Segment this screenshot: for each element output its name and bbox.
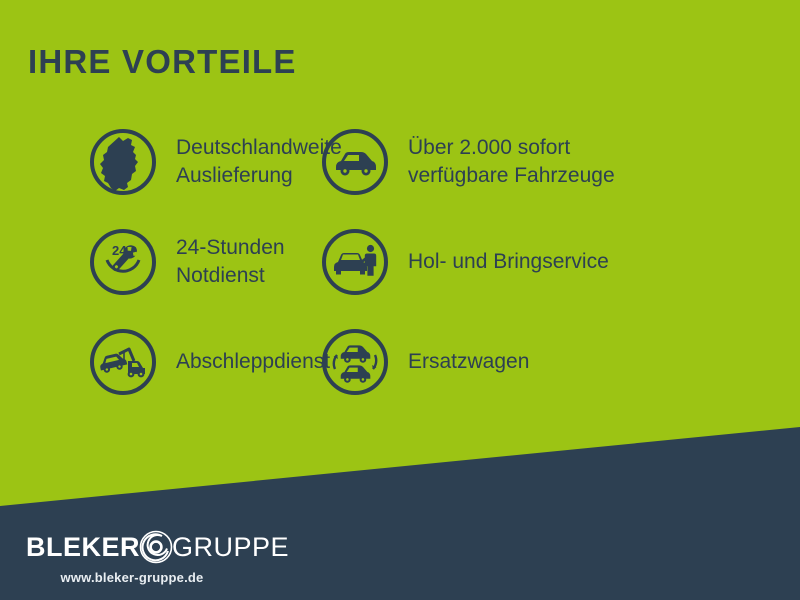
germany-map-icon	[88, 127, 158, 197]
two-cars-swap-icon	[320, 327, 390, 397]
logo-text-gruppe: GRUPPE	[172, 534, 289, 561]
benefit-item-verfuegbare-fahrzeuge: Über 2.000 sofort verfügbare Fahrzeuge	[310, 112, 710, 212]
benefit-item-hol-und-bringservice: Hol- und Bringservice	[310, 212, 710, 312]
spiral-logo-icon	[138, 529, 174, 565]
24h-wrench-icon: 24	[88, 227, 158, 297]
benefit-label: Hol- und Bringservice	[408, 248, 609, 276]
benefits-row: Abschleppdienst	[0, 312, 800, 412]
benefits-row: Deutschlandweite Auslieferung Über 2.000…	[0, 112, 800, 212]
website-url: www.bleker-gruppe.de	[26, 570, 238, 585]
benefit-label: Über 2.000 sofort verfügbare Fahrzeuge	[408, 134, 615, 189]
page-title: IHRE VORTEILE	[28, 44, 297, 80]
benefit-label: Ersatzwagen	[408, 348, 529, 376]
logo-wordmark: BLEKER GRUPPE	[26, 530, 286, 564]
benefit-item-abschleppdienst: Abschleppdienst	[0, 312, 310, 412]
benefit-item-notdienst: 24 24-Stunden Notdienst	[0, 212, 310, 312]
benefit-item-deutschlandweite-auslieferung: Deutschlandweite Auslieferung	[0, 112, 310, 212]
benefit-label: Abschleppdienst	[176, 348, 330, 376]
car-person-icon	[320, 227, 390, 297]
tow-truck-icon	[88, 327, 158, 397]
slide-canvas: IHRE VORTEILE Deutschlandweite Ausliefer…	[0, 0, 800, 600]
benefits-grid: Deutschlandweite Auslieferung Über 2.000…	[0, 112, 800, 412]
benefit-label: 24-Stunden Notdienst	[176, 234, 285, 289]
car-side-icon	[320, 127, 390, 197]
benefit-item-ersatzwagen: Ersatzwagen	[310, 312, 710, 412]
brand-logo: BLEKER GRUPPE www.bleker-gruppe.de	[26, 530, 286, 592]
logo-text-bleker: BLEKER	[26, 534, 140, 561]
benefits-row: 24 24-Stunden Notdienst	[0, 212, 800, 312]
